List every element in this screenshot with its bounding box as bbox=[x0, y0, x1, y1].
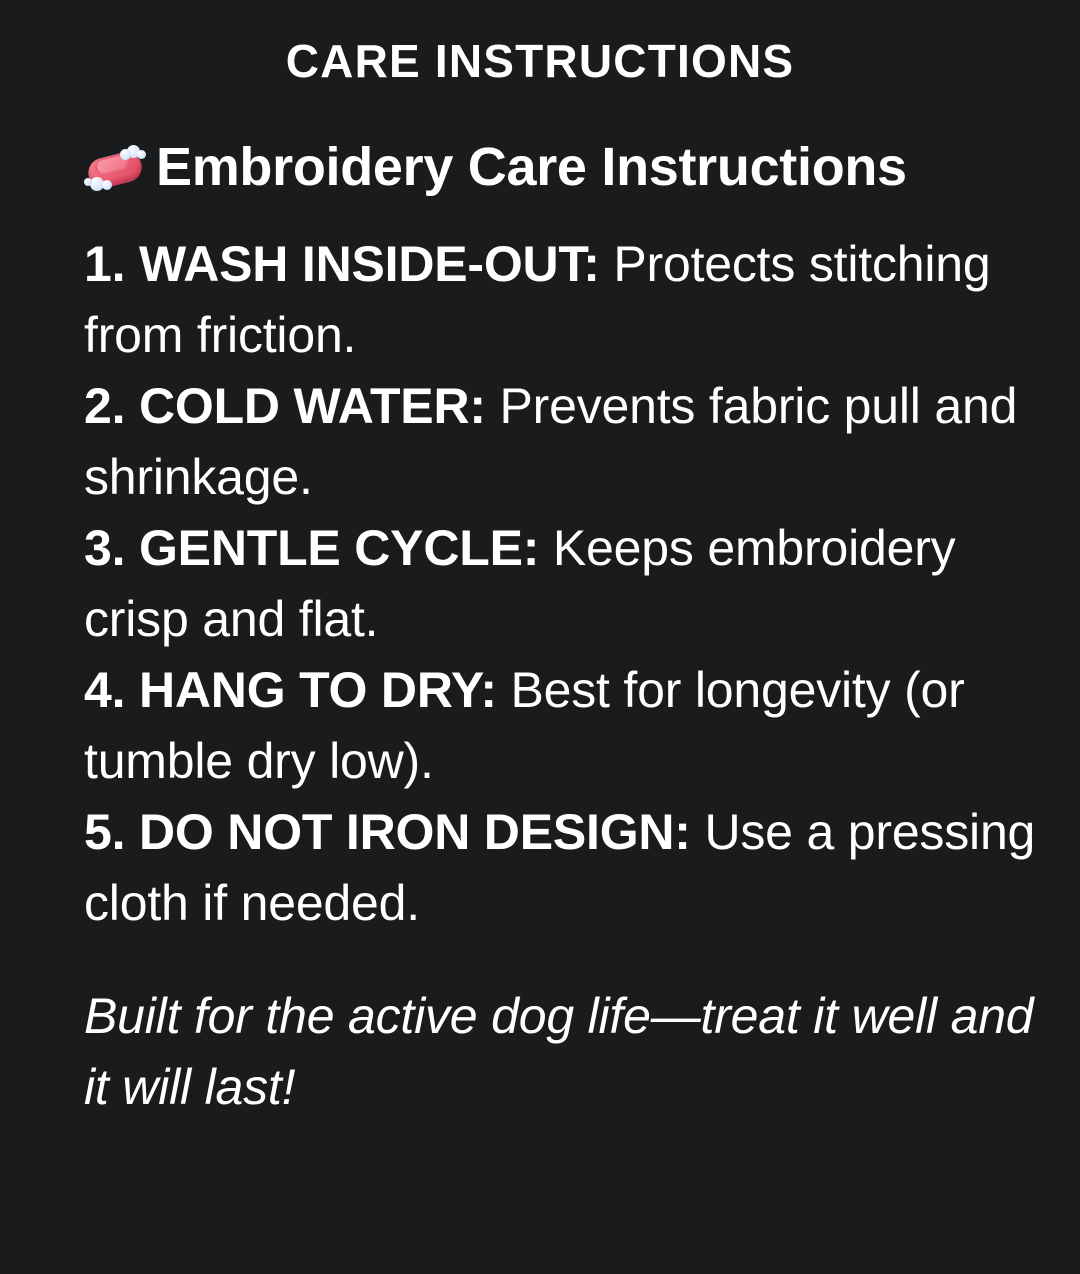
instruction-label: 4. HANG TO DRY: bbox=[84, 662, 497, 718]
care-content: Embroidery Care Instructions 1. WASH INS… bbox=[0, 84, 1080, 1123]
bubble-icon bbox=[137, 150, 146, 159]
list-item: 1. WASH INSIDE-OUT: Protects stitching f… bbox=[84, 229, 1050, 371]
bubble-icon bbox=[102, 180, 112, 190]
care-heading-text: Embroidery Care Instructions bbox=[156, 137, 907, 197]
bubble-icon bbox=[120, 149, 131, 160]
list-item: 3. GENTLE CYCLE: Keeps embroidery crisp … bbox=[84, 513, 1050, 655]
instruction-label: 1. WASH INSIDE-OUT: bbox=[84, 236, 600, 292]
care-heading: Embroidery Care Instructions bbox=[84, 128, 1044, 207]
list-item: 2. COLD WATER: Prevents fabric pull and … bbox=[84, 371, 1050, 513]
closing-note: Built for the active dog life—treat it w… bbox=[84, 981, 1050, 1123]
bubble-icon bbox=[84, 178, 92, 186]
soap-emoji-icon bbox=[84, 145, 146, 191]
list-item: 4. HANG TO DRY: Best for longevity (or t… bbox=[84, 655, 1050, 797]
page-title: CARE INSTRUCTIONS bbox=[0, 0, 1080, 84]
list-item: 5. DO NOT IRON DESIGN: Use a pressing cl… bbox=[84, 797, 1050, 939]
instruction-label: 3. GENTLE CYCLE: bbox=[84, 520, 539, 576]
care-instructions-panel: CARE INSTRUCTIONS Embroidery Care Instru… bbox=[0, 0, 1080, 1274]
instruction-label: 5. DO NOT IRON DESIGN: bbox=[84, 804, 691, 860]
instruction-label: 2. COLD WATER: bbox=[84, 378, 486, 434]
instruction-list: 1. WASH INSIDE-OUT: Protects stitching f… bbox=[84, 229, 1050, 939]
